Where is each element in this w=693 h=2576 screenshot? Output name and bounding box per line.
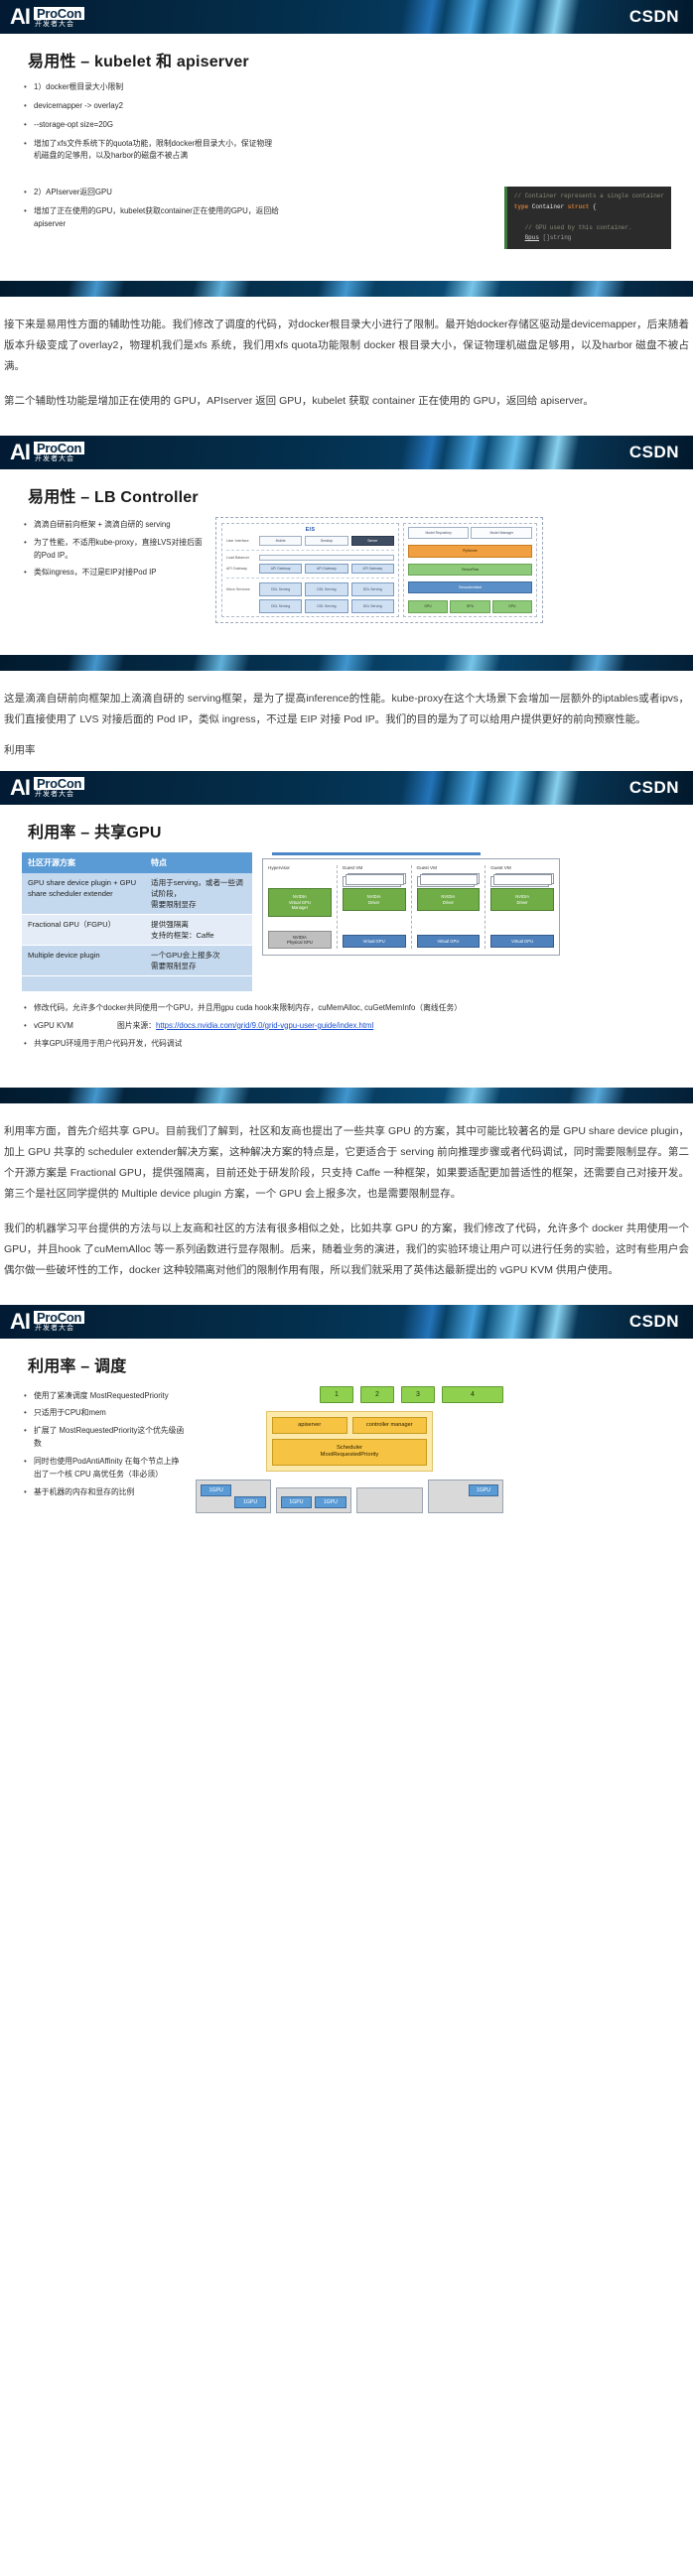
presentation-page: AI ProCon 开发者大会 CSDN 易用性 – kubelet 和 api… <box>0 0 693 1527</box>
speaker-notes-1: 接下来是易用性方面的辅助性功能。我们修改了调度的代码，对docker根目录大小进… <box>0 297 693 418</box>
api-gateway-2: API Gateway <box>305 564 347 574</box>
section-divider <box>0 655 693 671</box>
list-item: 共享GPU环境用于用户代码开发，代码调试 <box>22 1038 671 1051</box>
ai-logo-icon: AI <box>10 442 30 463</box>
paragraph: 接下来是易用性方面的辅助性功能。我们修改了调度的代码，对docker根目录大小进… <box>4 315 689 377</box>
code-field-type: []string <box>543 234 572 241</box>
guest-vm-column-2: Guest VM Applications NVIDIA Driver Virt… <box>411 865 481 949</box>
paragraph: 第二个辅助性功能是增加正在使用的 GPU，APIserver 返回 GPU，ku… <box>4 391 689 412</box>
cell-scheme: GPU share device plugin + GPU share sche… <box>22 873 145 915</box>
applications-stack-mid <box>493 874 552 885</box>
controller-manager-node: controller manager <box>352 1417 428 1434</box>
guest-vm-column-3: Guest VM Applications NVIDIA Driver Virt… <box>485 865 554 949</box>
source-link[interactable]: https://docs.nvidia.com/grid/9.0/grid-vg… <box>156 1021 373 1030</box>
cell-empty <box>145 975 252 991</box>
slide-lb-controller: AI ProCon 开发者大会 CSDN 易用性 – LB Controller… <box>0 436 693 637</box>
list-item: 使用了紧凑调度 MostRequestedPriority <box>22 1390 186 1403</box>
table-row: Multiple device plugin 一个GPU会上报多次 需要限制显存 <box>22 945 252 975</box>
csdn-logo-text: CSDN <box>629 1312 679 1332</box>
gpu-chip: 1GPU <box>281 1496 312 1508</box>
eis-panel: EIS User Interface Mobile Desktop Server <box>221 523 399 617</box>
slide-title: 易用性 – LB Controller <box>28 483 671 507</box>
scheduler-node: Scheduler MostRequestedPriority <box>272 1439 427 1467</box>
slide-title: 利用率 – 调度 <box>28 1352 671 1376</box>
model-manager: Model Manager <box>471 527 532 539</box>
code-type-name: Container <box>532 203 564 210</box>
procon-logo-subtitle: 开发者大会 <box>34 791 84 798</box>
slide-banner: AI ProCon 开发者大会 CSDN <box>0 771 693 805</box>
paragraph: 这是滴滴自研前向框架加上滴滴自研的 serving框架，是为了提高inferen… <box>4 689 689 730</box>
shared-gpu-table: 社区开源方案 特点 GPU share device plugin + GPU … <box>22 852 252 992</box>
nvidia-driver: NVIDIA Driver <box>417 888 481 911</box>
procon-logo-text: ProCon <box>34 1311 84 1324</box>
bullet-list-2: 2）APIserver返回GPU 增加了正在使用的GPU，kubelet获取co… <box>22 187 494 231</box>
slide-body: 易用性 – LB Controller 滴滴自研前向框架 + 滴滴自研的 ser… <box>0 469 693 637</box>
node-group-1: 1GPU 1GPU <box>196 1480 271 1513</box>
list-item: 1）docker根目录大小限制 <box>22 81 671 94</box>
gpu-chip: 1GPU <box>315 1496 346 1508</box>
list-item: 增加了xfs文件系统下的quota功能，限制docker根目录大小，保证物理机磁… <box>22 138 275 164</box>
brand-logo: AI ProCon 开发者大会 <box>10 6 84 28</box>
api-gateway-1: API Gateway <box>259 564 302 574</box>
procon-logo-text: ProCon <box>34 7 84 20</box>
guest-vm-label: Guest VM <box>417 865 481 870</box>
brand-logo: AI ProCon 开发者大会 <box>10 442 84 463</box>
source-prefix: 图片来源： <box>117 1021 156 1030</box>
slide-body: 易用性 – kubelet 和 apiserver 1）docker根目录大小限… <box>0 34 693 263</box>
table-row: GPU share device plugin + GPU share sche… <box>22 873 252 915</box>
row-label-micro-services: Micro Services <box>226 587 256 591</box>
virtual-gpu-3: Virtual GPU <box>490 935 554 948</box>
column-header-scheme: 社区开源方案 <box>22 852 145 873</box>
cell-scheme: Fractional GPU（FGPU） <box>22 914 145 945</box>
serving-4: DDL Serving <box>259 599 302 613</box>
list-item: 修改代码，允许多个docker共同使用一个GPU，并且用gpu cuda hoo… <box>22 1002 671 1015</box>
shared-gpu-bullets: 修改代码，允许多个docker共同使用一个GPU，并且用gpu cuda hoo… <box>22 1002 671 1051</box>
bullet-list: 1）docker根目录大小限制 devicemapper -> overlay2… <box>22 81 671 163</box>
client-mobile: Mobile <box>259 536 302 546</box>
table-header-row: 社区开源方案 特点 <box>22 852 252 873</box>
code-field-name: Gpus <box>525 234 539 241</box>
list-item: 为了性能，不适用kube-proxy，直接LVS对接后面的Pod IP。 <box>22 537 206 563</box>
speaker-notes-3: 利用率方面，首先介绍共享 GPU。目前我们了解到，社区和友商也提出了一些共享 G… <box>0 1103 693 1287</box>
slide-body: 利用率 – 共享GPU 社区开源方案 特点 GPU share device p… <box>0 805 693 1070</box>
list-item-source: vGPU KVM图片来源：https://docs.nvidia.com/gri… <box>22 1020 671 1033</box>
slide-banner: AI ProCon 开发者大会 CSDN <box>0 0 693 34</box>
node-group-4: 1GPU <box>428 1480 503 1513</box>
node-group-3-empty <box>356 1487 424 1513</box>
list-item: 滴滴自研前向框架 + 滴滴自研的 serving <box>22 519 206 532</box>
table-row: Fractional GPU（FGPU） 提供强隔离 支持的框架：Caffe <box>22 914 252 945</box>
procon-logo-subtitle: 开发者大会 <box>34 455 84 462</box>
cell-feature: 适用于serving，或者一些调试阶段， 需要限制显存 <box>145 873 252 915</box>
speaker-notes-2: 这是滴滴自研前向框架加上滴滴自研的 serving框架，是为了提高inferen… <box>0 671 693 736</box>
model-repository: Model Repository <box>408 527 470 539</box>
cell-feature: 一个GPU会上报多次 需要限制显存 <box>145 945 252 975</box>
vgpu-kvm-label: vGPU KVM <box>34 1020 117 1033</box>
procon-logo-subtitle: 开发者大会 <box>34 1325 84 1332</box>
node-badge-2: 2 <box>360 1386 394 1403</box>
ai-logo-icon: AI <box>10 6 30 28</box>
list-item: 只适用于CPU和mem <box>22 1407 186 1420</box>
serving-2: DDL Serving <box>305 582 347 596</box>
cell-feature: 提供强隔离 支持的框架：Caffe <box>145 914 252 945</box>
list-item: 2）APIserver返回GPU <box>22 187 494 199</box>
scheduling-bullets: 使用了紧凑调度 MostRequestedPriority 只适用于CPU和me… <box>22 1390 186 1499</box>
list-item: 增加了正在使用的GPU，kubelet获取container正在使用的GPU，返… <box>22 205 295 231</box>
brand-logo: AI ProCon 开发者大会 <box>10 1311 84 1333</box>
paragraph: 我们的机器学习平台提供的方法与以上友商和社区的方法有很多相似之处，比如共享 GP… <box>4 1219 689 1281</box>
ai-logo-icon: AI <box>10 777 30 799</box>
slide-banner: AI ProCon 开发者大会 CSDN <box>0 1305 693 1339</box>
node-badge-1: 1 <box>320 1386 353 1403</box>
code-keyword-struct: struct <box>568 203 590 210</box>
list-item: 基于机器的内存和显存的比例 <box>22 1486 186 1499</box>
api-gateway-3: API Gateway <box>351 564 394 574</box>
table-row-spacer <box>22 975 252 991</box>
eis-title: EIS <box>226 527 394 533</box>
apiserver-node: apiserver <box>272 1417 347 1434</box>
section-divider <box>0 281 693 297</box>
client-desktop: Desktop <box>305 536 347 546</box>
load-balancer-bar <box>259 555 394 561</box>
cell-scheme: Multiple device plugin <box>22 945 145 975</box>
list-item: 扩展了 MostRequestedPriority这个优先级函数 <box>22 1425 186 1451</box>
cell-empty <box>22 975 145 991</box>
code-snippet: // Container represents a single contain… <box>504 187 671 249</box>
code-keyword-type: type <box>514 203 528 210</box>
pipeline-box: PlyServer <box>408 545 532 557</box>
code-comment-2: // GPU used by this container. <box>525 224 632 231</box>
procon-logo-subtitle: 开发者大会 <box>34 21 84 28</box>
slide-banner: AI ProCon 开发者大会 CSDN <box>0 436 693 469</box>
lb-architecture-diagram: EIS User Interface Mobile Desktop Server <box>215 517 543 623</box>
node-badge-4: 4 <box>442 1386 503 1403</box>
procon-logo-text: ProCon <box>34 777 84 790</box>
client-server: Server <box>351 536 394 546</box>
section-divider <box>0 1088 693 1103</box>
guest-vm-label: Guest VM <box>490 865 554 870</box>
node-group-2: 1GPU 1GPU <box>276 1487 351 1513</box>
column-header-feature: 特点 <box>145 852 252 873</box>
bullet-list: 滴滴自研前向框架 + 滴滴自研的 serving 为了性能，不适用kube-pr… <box>22 519 206 580</box>
list-item: devicemapper -> overlay2 <box>22 100 671 113</box>
slide-title: 利用率 – 共享GPU <box>28 819 671 842</box>
csdn-logo-text: CSDN <box>629 443 679 462</box>
nvidia-physical-gpu: NVIDIA Physical GPU <box>268 931 332 949</box>
code-comment-1: // Container represents a single contain… <box>514 193 664 199</box>
gpu-box-2: GPU <box>450 600 489 612</box>
guest-vm-label: Guest VM <box>343 865 406 870</box>
applications-stack-mid <box>346 874 404 885</box>
gpu-box-1: GPU <box>408 600 448 612</box>
nvidia-driver: NVIDIA Driver <box>343 888 406 911</box>
gpu-chip: 1GPU <box>469 1484 498 1496</box>
scheduling-diagram: 1 2 3 4 apiserver controller manager Sch… <box>196 1386 503 1514</box>
slide-body: 利用率 – 调度 使用了紧凑调度 MostRequestedPriority 只… <box>0 1339 693 1528</box>
gpu-chip: 1GPU <box>234 1496 265 1508</box>
control-plane-panel: apiserver controller manager Scheduler M… <box>266 1411 433 1473</box>
csdn-logo-text: CSDN <box>629 7 679 27</box>
model-panel: Model Repository Model Manager PlyServer… <box>403 523 537 617</box>
tensor-architect-box: TensorArchitect <box>408 581 532 593</box>
brand-logo: AI ProCon 开发者大会 <box>10 777 84 799</box>
list-item: 类似ingress，不过是EIP对接Pod IP <box>22 567 206 580</box>
row-label-api-gateway: API Gateway <box>226 567 256 571</box>
slide-title: 易用性 – kubelet 和 apiserver <box>28 48 671 71</box>
row-label-user-interface: User Interface <box>226 539 256 543</box>
diagram-accent-bar <box>272 852 481 855</box>
list-item: 同时也使用PodAntiAffinity 在每个节点上挣出了一个核 CPU 高优… <box>22 1456 186 1481</box>
nvidia-vgpu-diagram: Hypervisor NVIDIA Virtual GPU Manager NV… <box>262 852 560 956</box>
slide-kubelet-apiserver: AI ProCon 开发者大会 CSDN 易用性 – kubelet 和 api… <box>0 0 693 263</box>
serving-5: DDL Serving <box>305 599 347 613</box>
hypervisor-column: Hypervisor NVIDIA Virtual GPU Manager NV… <box>268 865 332 949</box>
ai-logo-icon: AI <box>10 1311 30 1333</box>
paragraph: 利用率方面，首先介绍共享 GPU。目前我们了解到，社区和友商也提出了一些共享 G… <box>4 1121 689 1205</box>
csdn-logo-text: CSDN <box>629 778 679 798</box>
hypervisor-label: Hypervisor <box>268 865 332 870</box>
guest-vm-column-1: Guest VM Applications NVIDIA Driver Virt… <box>337 865 406 949</box>
slide-scheduling: AI ProCon 开发者大会 CSDN 利用率 – 调度 使用了紧凑调度 Mo… <box>0 1305 693 1528</box>
list-item: --storage-opt size=20G <box>22 119 671 132</box>
serving-1: DDL Serving <box>259 582 302 596</box>
virtual-gpu-1: Virtual GPU <box>343 935 406 948</box>
nvidia-driver: NVIDIA Driver <box>490 888 554 911</box>
serving-6: DDL Serving <box>351 599 394 613</box>
gpu-box-3: GPU <box>492 600 532 612</box>
slide-shared-gpu: AI ProCon 开发者大会 CSDN 利用率 – 共享GPU 社区开源方案 … <box>0 771 693 1070</box>
section-heading-utilization: 利用率 <box>0 740 693 761</box>
gpu-chip: 1GPU <box>201 1484 231 1496</box>
node-badge-3: 3 <box>401 1386 435 1403</box>
tensorflow-box: TensorFlow <box>408 564 532 576</box>
nvidia-vgpu-manager: NVIDIA Virtual GPU Manager <box>268 888 332 917</box>
applications-stack-mid <box>420 874 479 885</box>
row-label-load-balancer: Load Balancer <box>226 556 256 560</box>
virtual-gpu-2: Virtual GPU <box>417 935 481 948</box>
code-brace: { <box>593 203 597 210</box>
procon-logo-text: ProCon <box>34 442 84 454</box>
serving-3: DDL Serving <box>351 582 394 596</box>
